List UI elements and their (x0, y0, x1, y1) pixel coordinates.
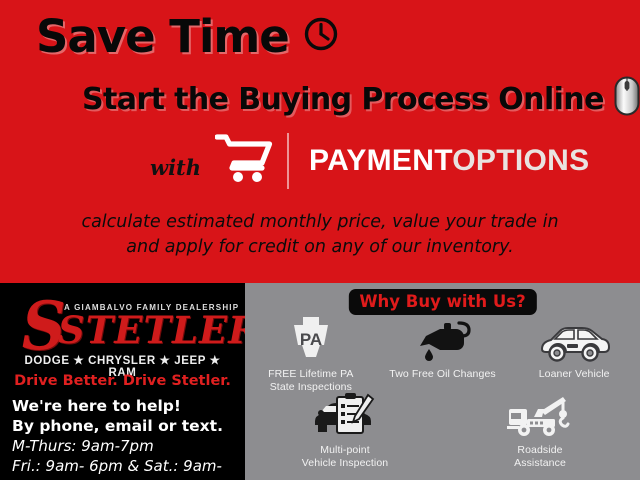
stetler-logo: S A GIAMBALVO FAMILY DEALERSHIP STETLER … (0, 283, 245, 383)
feature-roadside-assistance: RoadsideAssistance (470, 389, 610, 470)
oil-can-icon (415, 313, 471, 363)
tow-truck-icon (507, 389, 573, 439)
svg-text:PA: PA (300, 330, 322, 349)
stetler-logo-name: STETLER (58, 312, 260, 349)
contact-line-1: We're here to help! (12, 396, 245, 416)
feature-roadside-assistance-label: RoadsideAssistance (514, 444, 566, 470)
payment-options-wordmark: PAYMENTOPTIONS (309, 146, 589, 176)
contact-block: We're here to help! By phone, email or t… (12, 396, 245, 480)
hero-red-panel: Save Time Start the Buying Process Onlin… (0, 0, 640, 283)
headline-start-buying: Start the Buying Process Online (82, 76, 640, 124)
feature-multipoint-inspection: Multi-pointVehicle Inspection (275, 389, 415, 470)
dealer-info-panel: S A GIAMBALVO FAMILY DEALERSHIP STETLER … (0, 283, 245, 480)
with-label: with (150, 155, 201, 180)
contact-hours-weekday: M-Thurs: 9am-7pm (12, 437, 245, 457)
why-buy-heading: Why Buy with Us? (348, 289, 536, 315)
clock-icon (303, 14, 339, 59)
feature-loaner-vehicle-label: Loaner Vehicle (539, 368, 610, 381)
feature-row-top: PA FREE Lifetime PAState Inspections Two… (245, 313, 640, 394)
clipboard-car-inspection-icon (312, 389, 378, 439)
headline-save-time: Save Time (36, 14, 339, 59)
contact-line-2: By phone, email or text. (12, 416, 245, 436)
car-icon (538, 313, 610, 363)
headline-save-time-text: Save Time (36, 14, 289, 59)
shopping-cart-icon (215, 132, 273, 189)
contact-hours-weekend: Fri.: 9am- 6pm & Sat.: 9am-5pm (12, 457, 245, 480)
headline-start-buying-text: Start the Buying Process Online (82, 85, 604, 115)
dealer-slogan: Drive Better. Drive Stetler. (0, 373, 245, 389)
hero-tagline: calculate estimated monthly price, value… (0, 210, 640, 261)
wordmark-payment: PAYMENT (309, 144, 452, 177)
wordmark-options: OPTIONS (452, 144, 589, 177)
logo-divider (287, 133, 289, 189)
feature-oil-changes: Two Free Oil Changes (377, 313, 509, 394)
feature-multipoint-inspection-label: Multi-pointVehicle Inspection (302, 444, 388, 470)
feature-row-bottom: Multi-pointVehicle Inspection (245, 389, 640, 470)
feature-oil-changes-label: Two Free Oil Changes (389, 368, 495, 381)
feature-pa-inspections: PA FREE Lifetime PAState Inspections (245, 313, 377, 394)
feature-loaner-vehicle: Loaner Vehicle (508, 313, 640, 394)
advertisement-banner: Save Time Start the Buying Process Onlin… (0, 0, 640, 480)
computer-mouse-icon (614, 76, 640, 122)
pa-keystone-icon: PA (286, 313, 336, 363)
why-buy-panel: Why Buy with Us? PA FREE Lifetime PAStat… (245, 283, 640, 480)
payment-options-logo: with PAYMENTOPTIONS (150, 132, 589, 189)
